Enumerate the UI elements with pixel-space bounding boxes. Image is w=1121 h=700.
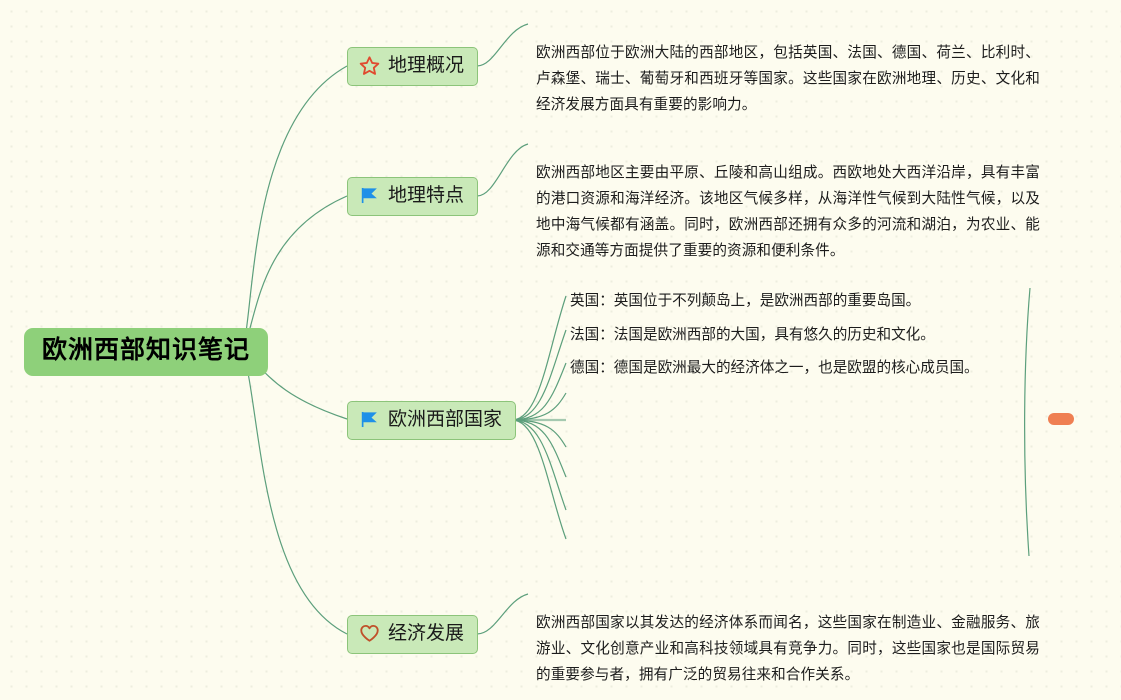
root-node[interactable]: 欧洲西部知识笔记 [24, 328, 268, 376]
wire-geography-features-to-text [477, 144, 528, 196]
branch-label-western-european-countries: 欧洲西部国家 [388, 409, 502, 431]
wire-country-4 [512, 393, 566, 420]
wire-country-7 [512, 420, 566, 510]
wire-country-3 [512, 363, 566, 420]
branch-node-economic-development[interactable]: 经济发展 [347, 615, 478, 654]
list-item-country-uk: 英国：英国位于不列颠岛上，是欧洲西部的重要岛国。 [570, 290, 920, 312]
wire-economic-development-to-text [477, 594, 528, 634]
wire-country-2 [512, 330, 566, 420]
branch-label-geography-features: 地理特点 [388, 185, 464, 207]
leaf-text-economic-development: 欧洲西部国家以其发达的经济体系而闻名，这些国家在制造业、金融服务、旅游业、文化创… [536, 610, 1040, 688]
wire-root-to-geography-features [243, 196, 347, 350]
leaf-text-geography-overview: 欧洲西部位于欧洲大陆的西部地区，包括英国、法国、德国、荷兰、比利时、卢森堡、瑞士… [536, 40, 1040, 118]
flag-icon [359, 409, 380, 430]
branch-node-western-european-countries[interactable]: 欧洲西部国家 [347, 401, 516, 440]
wire-geography-overview-to-text [477, 24, 528, 66]
list-item-country-france: 法国：法国是欧洲西部的大国，具有悠久的历史和文化。 [570, 324, 935, 346]
flag-icon [359, 185, 380, 206]
wire-country-1 [512, 296, 566, 420]
leaf-text-geography-features: 欧洲西部地区主要由平原、丘陵和高山组成。西欧地处大西洋沿岸，具有丰富的港口资源和… [536, 160, 1040, 264]
wire-country-5 [512, 420, 566, 447]
wire-root-to-geography-overview [243, 66, 347, 350]
root-node-label: 欧洲西部知识笔记 [42, 337, 250, 365]
wire-country-8 [512, 420, 566, 539]
wire-root-to-economic-development [243, 350, 347, 634]
branch-label-geography-overview: 地理概况 [388, 55, 464, 77]
branch-node-geography-overview[interactable]: 地理概况 [347, 47, 478, 86]
mindmap-canvas[interactable]: 欧洲西部知识笔记 地理概况 欧洲西部位于欧洲大陆的西部地区，包括英国、法国、德国… [0, 0, 1121, 700]
star-icon [359, 55, 380, 76]
wire-country-6 [512, 420, 566, 477]
collapsed-node-pill[interactable] [1048, 413, 1074, 425]
wire-right-edge [1025, 288, 1030, 556]
branch-label-economic-development: 经济发展 [388, 623, 464, 645]
list-item-country-germany: 德国：德国是欧洲最大的经济体之一，也是欧盟的核心成员国。 [570, 357, 979, 379]
branch-node-geography-features[interactable]: 地理特点 [347, 177, 478, 216]
heart-icon [359, 623, 380, 644]
